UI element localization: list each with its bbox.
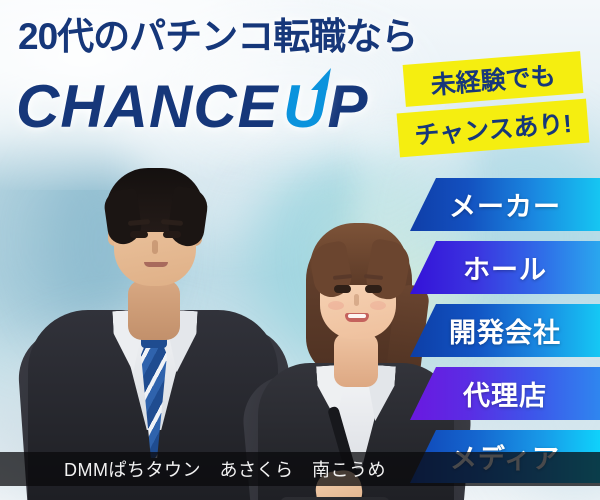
mouth [144, 262, 168, 267]
neck [128, 280, 180, 340]
badge-line-2: チャンスあり! [397, 99, 590, 158]
logo-word-chance: CHANCE [16, 73, 279, 140]
promo-badge: 未経験でも チャンスあり! [398, 56, 588, 160]
headline-text: 20代のパチンコ転職なら [18, 18, 438, 55]
caption-text: DMMぱちタウン あさくら 南こうめ [64, 456, 386, 482]
category-button-hall[interactable]: ホール [410, 241, 600, 294]
logo-letter-u: U [283, 72, 327, 142]
category-button-agency[interactable]: 代理店 [410, 367, 600, 420]
cheek-right [370, 301, 386, 310]
category-button-list: メーカー ホール 開発会社 代理店 メディア [410, 178, 600, 490]
caption-bar: DMMぱちタウン あさくら 南こうめ [0, 452, 600, 486]
logo-letter-p: P [327, 73, 368, 140]
eye-left [130, 231, 148, 238]
hair-side-right [166, 186, 210, 248]
badge-line-1: 未経験でも [403, 51, 584, 107]
nose [152, 240, 158, 254]
teeth [348, 314, 366, 318]
eye-left [334, 285, 351, 293]
chance-up-logo: CHANCE U P [16, 72, 416, 142]
eye-right [365, 285, 382, 293]
male-model-photo [28, 160, 278, 500]
neck [334, 333, 378, 387]
category-button-developer[interactable]: 開発会社 [410, 304, 600, 357]
category-button-maker[interactable]: メーカー [410, 178, 600, 231]
recruitment-banner: 20代のパチンコ転職なら CHANCE U P 未経験でも チャンスあり! メー… [0, 0, 600, 500]
nose [354, 294, 359, 306]
eye-right [163, 231, 181, 238]
cheek-left [328, 301, 344, 310]
